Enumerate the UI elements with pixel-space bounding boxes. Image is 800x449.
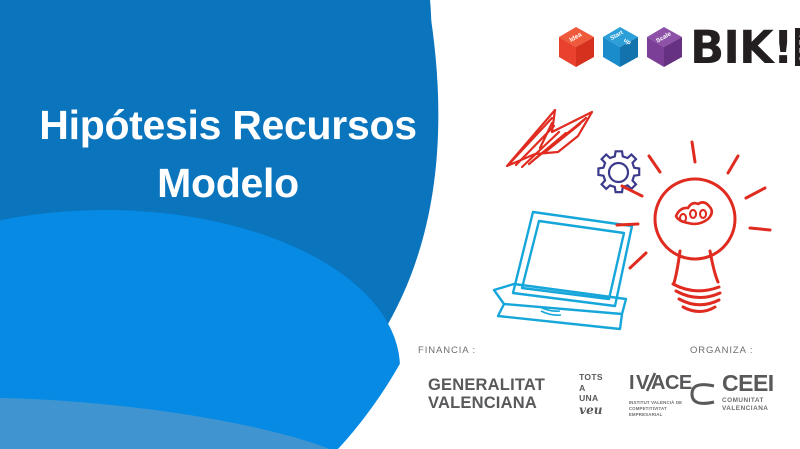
organiza-block: ORGANIZA : CEEI COMUNITAT VALENCIANA — [690, 345, 798, 414]
title-line-1: Hipótesis Recursos — [18, 96, 438, 154]
title-line-2: Modelo — [18, 154, 438, 212]
slogan-line-2: A UNA — [579, 383, 603, 403]
cube-startup-icon: Start up — [600, 24, 642, 70]
bik-logo: Idea Start up Scale BIK! CEEI — [556, 18, 788, 76]
generalitat-line-1: GENERALITAT — [428, 377, 545, 394]
gear-icon — [598, 151, 639, 192]
ivace-sub-line-2: COMPETITIVITAT EMPRESARIAL — [629, 406, 693, 418]
cube-idea-icon: Idea — [556, 24, 598, 70]
financia-block: FINANCIA : GENERALITAT VALENCIANA TOTS A… — [418, 345, 663, 418]
slide-root: Hipótesis Recursos Modelo Idea Start up — [0, 0, 800, 449]
generalitat-slogan: TOTS A UNA veu — [579, 372, 603, 417]
ceei-sub-line-1: COMUNITAT — [722, 397, 774, 405]
lightbulb-icon — [617, 142, 770, 312]
sketch-illustration — [480, 88, 780, 336]
ceei-text-block: CEEI COMUNITAT VALENCIANA — [722, 372, 774, 414]
svg-text:ACE: ACE — [651, 372, 692, 394]
ceei-wordmark: CEEI — [722, 372, 774, 395]
financia-logos: GENERALITAT VALENCIANA TOTS A UNA veu I … — [418, 372, 663, 418]
slogan-line-1: TOTS — [579, 372, 603, 382]
slogan-line-3: veu — [579, 403, 603, 417]
arrow-icon — [507, 110, 592, 167]
ceei-badge: CEEI — [795, 28, 800, 66]
generalitat-line-2: VALENCIANA — [428, 395, 545, 412]
logo-cubes: Idea Start up Scale — [556, 24, 686, 70]
ivace-logo: I V ACE INSTITUT VALENCIÀ DE COMPETITIVI… — [629, 372, 693, 418]
page-title: Hipótesis Recursos Modelo — [18, 96, 438, 212]
ivace-mark-icon: I V ACE — [629, 372, 693, 394]
ivace-wordmark: I V ACE — [629, 372, 693, 398]
organiza-logos: CEEI COMUNITAT VALENCIANA — [690, 372, 798, 414]
ceei-swoosh-icon — [690, 378, 716, 408]
ceei-sub-line-2: VALENCIANA — [722, 405, 774, 413]
cube-scale-icon: Scale — [644, 24, 686, 70]
laptop-icon — [494, 212, 632, 329]
financia-label: FINANCIA : — [418, 345, 663, 356]
generalitat-wordmark: GENERALITAT VALENCIANA — [428, 377, 545, 412]
ceei-subtitle: COMUNITAT VALENCIANA — [722, 397, 774, 414]
ivace-subtitle: INSTITUT VALENCIÀ DE COMPETITIVITAT EMPR… — [629, 400, 693, 418]
svg-text:I: I — [629, 372, 634, 394]
bik-wordmark: BIK! — [690, 25, 792, 70]
organiza-label: ORGANIZA : — [690, 345, 798, 356]
